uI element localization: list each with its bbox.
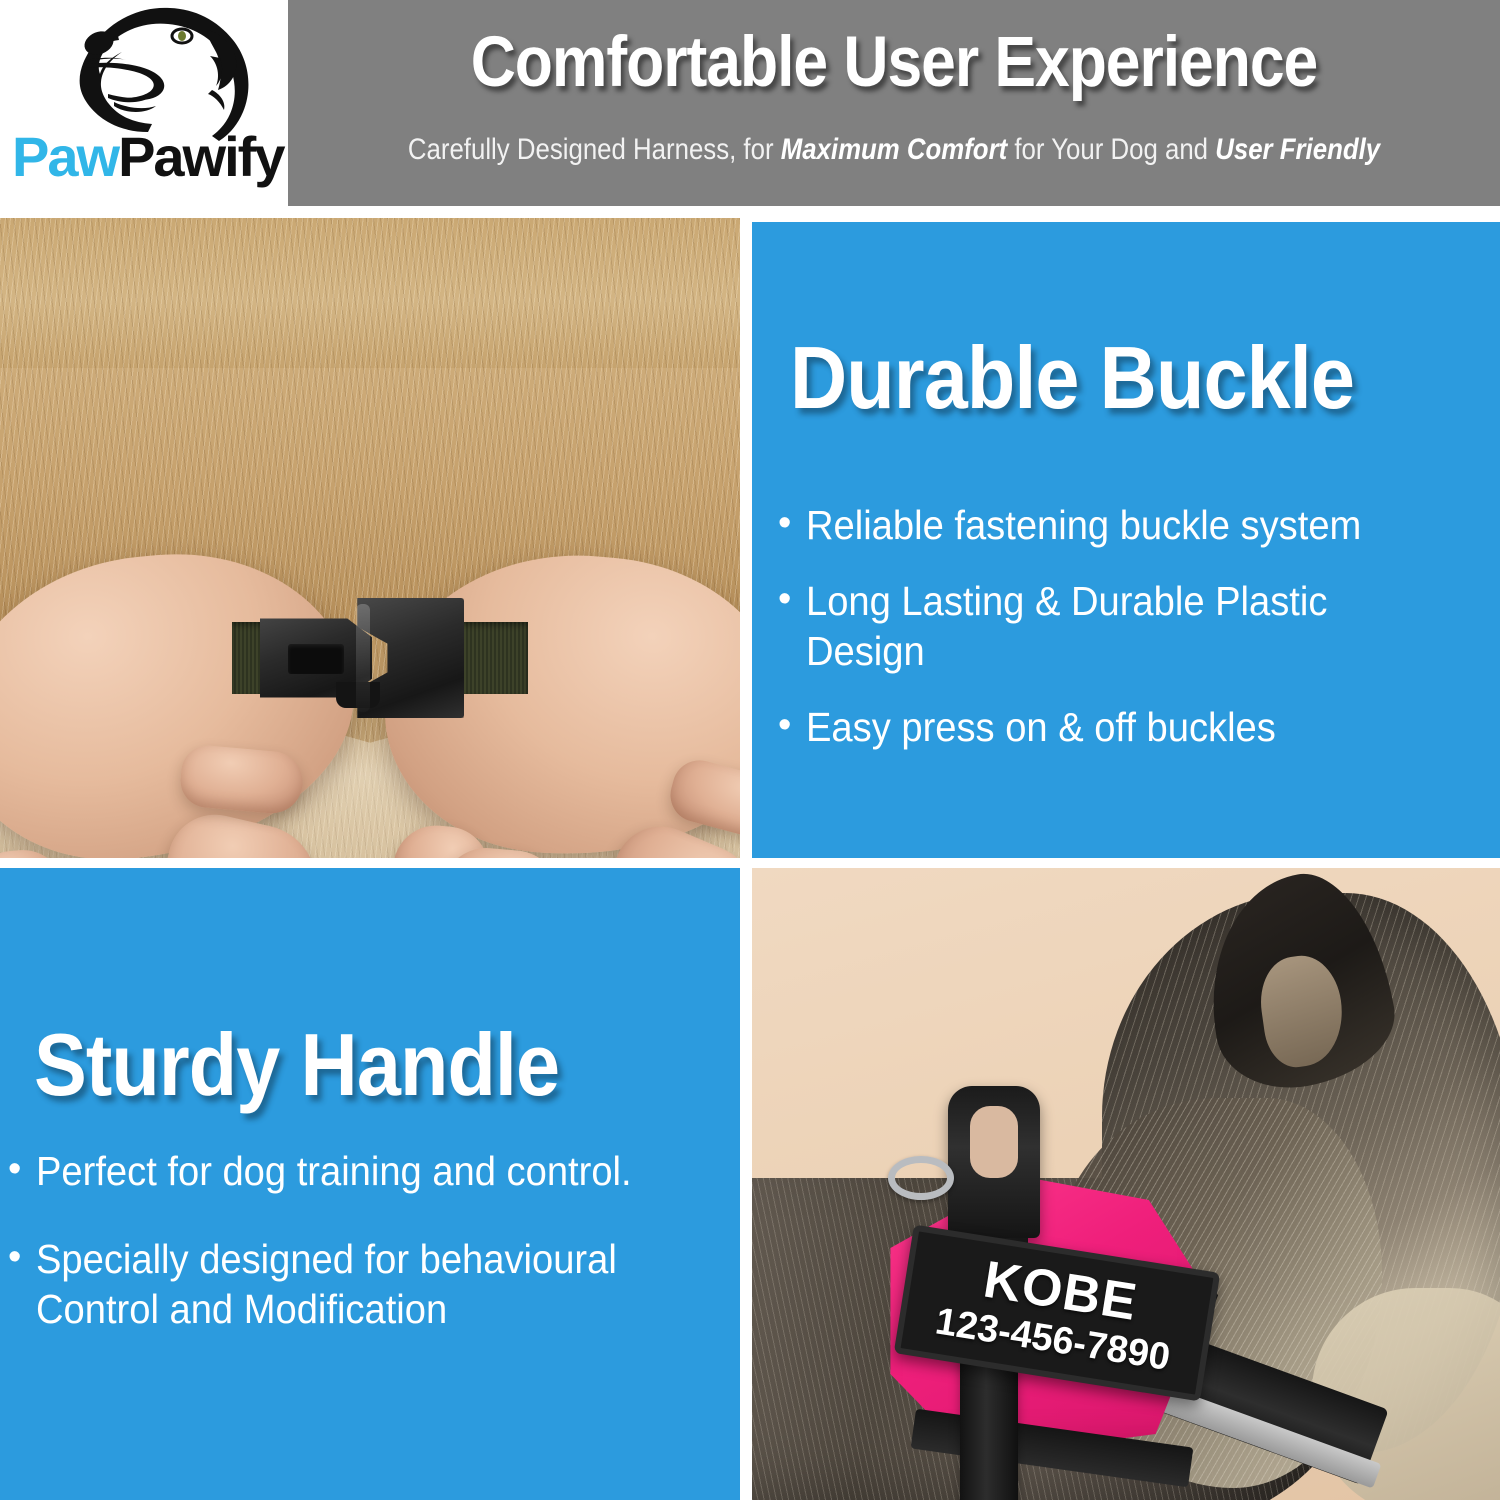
- left-hand-index-finger: [178, 743, 305, 815]
- bullet-item: •Long Lasting & Durable Plastic Design: [778, 576, 1488, 676]
- bullet-dot-icon: •: [778, 702, 806, 748]
- brand-wordmark-pawify: Pawify: [118, 125, 283, 188]
- header-subtitle-part-2: for Your Dog and: [1007, 133, 1215, 166]
- buckle-highlight: [356, 604, 370, 712]
- infographic-page: PawPawify Comfortable User Experience Ca…: [0, 0, 1500, 1500]
- bullet-item: •Reliable fastening buckle system: [778, 500, 1488, 550]
- dog-head-logo-icon: [22, 2, 272, 142]
- header-subtitle: Carefully Designed Harness, for Maximum …: [373, 133, 1415, 167]
- header-subtitle-part-3: User Friendly: [1215, 133, 1380, 166]
- photo-dog-harness-panel: KOBE 123-456-7890: [752, 868, 1500, 1500]
- header: PawPawify Comfortable User Experience Ca…: [0, 0, 1500, 212]
- photo-buckle-panel: [0, 218, 740, 858]
- dog-harness-photo: KOBE 123-456-7890: [752, 868, 1500, 1500]
- hands-buckle-photo: [0, 218, 740, 858]
- durable-buckle-title: Durable Buckle: [790, 327, 1354, 429]
- bullet-dot-icon: •: [8, 1234, 36, 1280]
- harness-handle-opening: [970, 1106, 1018, 1178]
- bullet-text: Long Lasting & Durable Plastic Design: [806, 576, 1440, 676]
- bullet-text: Reliable fastening buckle system: [806, 500, 1361, 550]
- harness-d-ring: [888, 1156, 954, 1200]
- header-subtitle-part-1: Maximum Comfort: [781, 133, 1007, 166]
- sturdy-handle-panel: Sturdy Handle •Perfect for dog training …: [0, 868, 740, 1500]
- bullet-text: Specially designed for behavioural Contr…: [36, 1234, 678, 1334]
- bullet-text: Easy press on & off buckles: [806, 702, 1276, 752]
- bullet-item: •Specially designed for behavioural Cont…: [8, 1234, 726, 1334]
- durable-buckle-bullets: •Reliable fastening buckle system•Long L…: [778, 500, 1488, 778]
- buckle-slot: [288, 644, 344, 674]
- brand-wordmark: PawPawify: [12, 128, 282, 190]
- bullet-item: •Perfect for dog training and control.: [8, 1146, 726, 1196]
- bullet-text: Perfect for dog training and control.: [36, 1146, 632, 1196]
- brand-wordmark-paw: Paw: [12, 125, 118, 188]
- durable-buckle-panel: Durable Buckle •Reliable fastening buckl…: [752, 222, 1500, 858]
- header-band: Comfortable User Experience Carefully De…: [288, 0, 1500, 206]
- sturdy-handle-bullets: •Perfect for dog training and control.•S…: [8, 1146, 726, 1372]
- header-subtitle-part-0: Carefully Designed Harness, for: [408, 133, 781, 166]
- sturdy-handle-title: Sturdy Handle: [34, 1014, 559, 1116]
- harness-buckle: [232, 586, 522, 736]
- bullet-item: •Easy press on & off buckles: [778, 702, 1488, 752]
- bullet-dot-icon: •: [778, 500, 806, 546]
- header-title: Comfortable User Experience: [361, 22, 1428, 103]
- brand-logo-block: PawPawify: [0, 0, 288, 212]
- bullet-dot-icon: •: [778, 576, 806, 622]
- bullet-dot-icon: •: [8, 1146, 36, 1192]
